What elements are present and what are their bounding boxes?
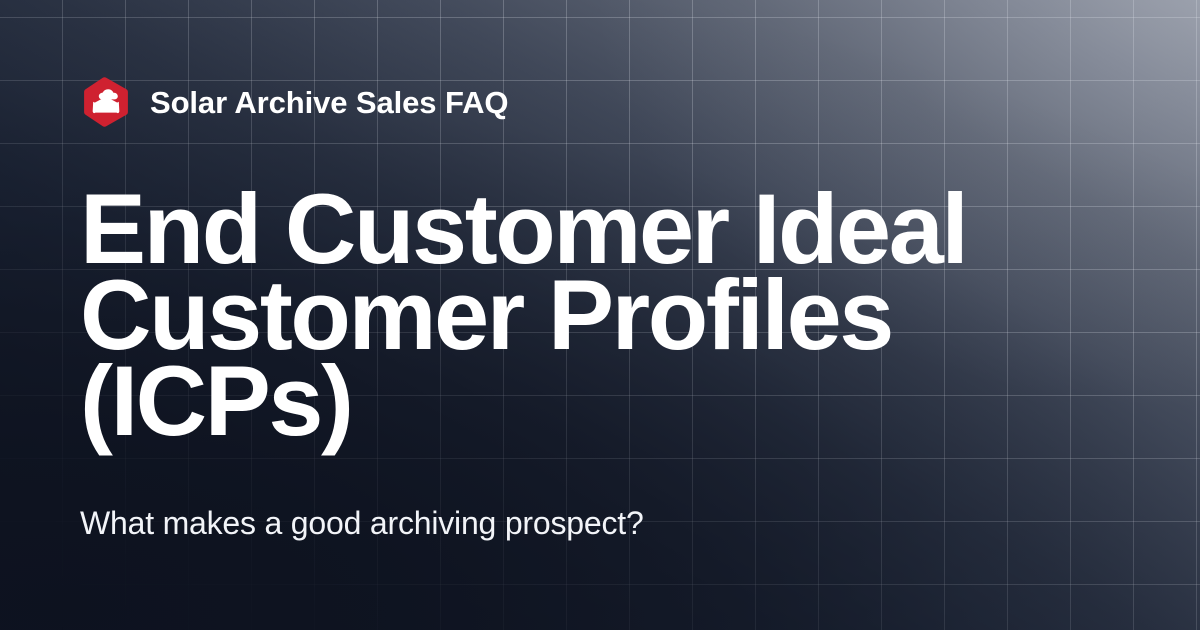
envelope-cloud-hexagon-icon (80, 76, 132, 128)
social-share-card: Solar Archive Sales FAQ End Customer Ide… (0, 0, 1200, 630)
page-title: End Customer Ideal Customer Profiles (IC… (80, 186, 1090, 444)
brand-name-label: Solar Archive Sales FAQ (150, 87, 508, 118)
page-subtitle: What makes a good archiving prospect? (80, 502, 644, 544)
brand-header: Solar Archive Sales FAQ (80, 76, 508, 128)
card-content: Solar Archive Sales FAQ End Customer Ide… (0, 0, 1200, 630)
